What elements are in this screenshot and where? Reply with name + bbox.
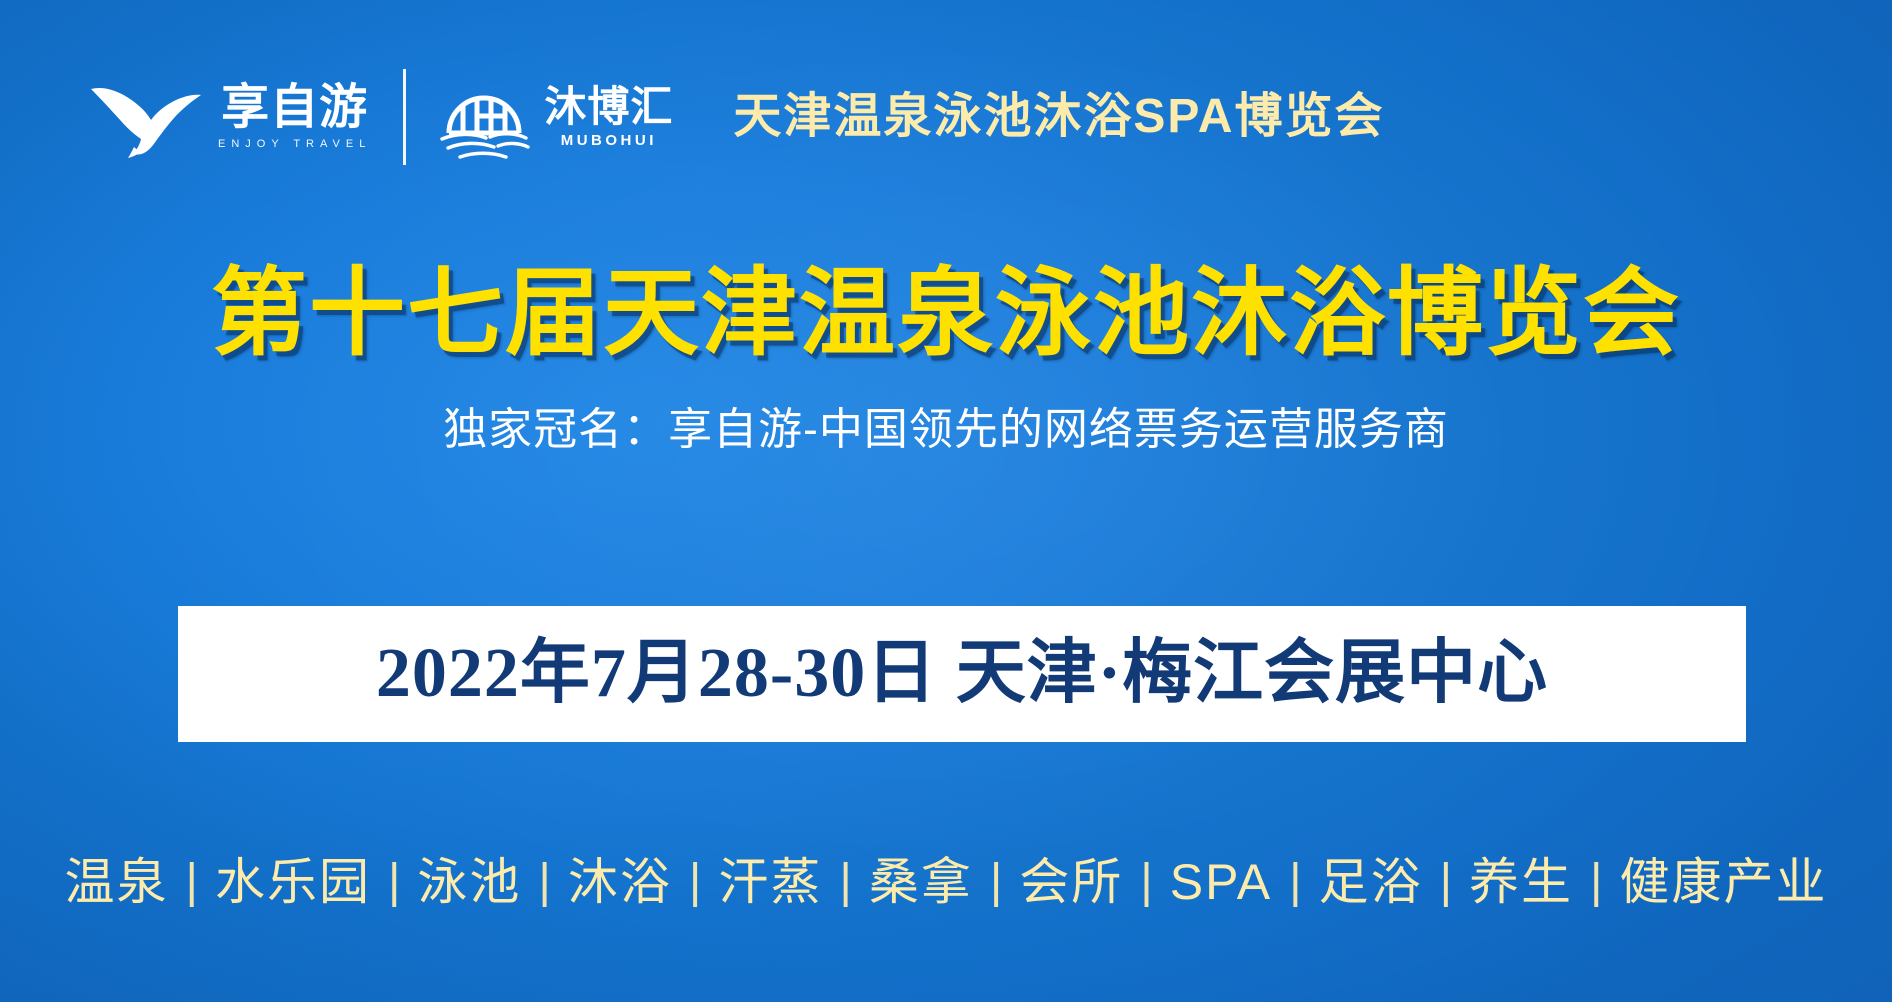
header-expo-title: 天津温泉泳池沐浴SPA博览会 — [733, 93, 1384, 141]
seagull-icon — [88, 75, 204, 159]
keyword-separator: | — [822, 853, 868, 911]
sponsor-name-en: ENJOY TRAVEL — [218, 138, 371, 150]
expo-banner: 享自游 ENJOY TRAVEL — [0, 0, 1892, 1002]
logo-divider — [403, 69, 406, 165]
page-title: 第十七届天津温泉泳池沐浴博览会 — [0, 262, 1892, 366]
sponsor-name-cn: 享自游 — [221, 84, 368, 133]
keyword-item: 温泉 — [64, 852, 168, 912]
keyword-item: 汗蒸 — [718, 852, 822, 912]
organizer-name-cn: 沐博汇 — [544, 85, 673, 129]
keyword-separator: | — [168, 853, 214, 911]
keyword-item: 沐浴 — [568, 852, 672, 912]
keyword-item: 健康产业 — [1620, 852, 1828, 912]
date-venue-box: 2022年7月28-30日 天津·梅江会展中心 — [178, 606, 1746, 742]
mubohui-emblem-icon — [436, 71, 532, 163]
date-venue-text: 2022年7月28-30日 天津·梅江会展中心 — [376, 639, 1548, 709]
keyword-item: SPA — [1170, 852, 1272, 912]
organizer-wordmark: 沐博汇 MUBOHUI — [544, 85, 673, 148]
organizer-name-en: MUBOHUI — [561, 132, 657, 149]
keyword-separator: | — [973, 853, 1019, 911]
page-subtitle: 独家冠名：享自游-中国领先的网络票务运营服务商 — [0, 404, 1892, 457]
keyword-strip: 温泉|水乐园|泳池|沐浴|汗蒸|桑拿|会所|SPA|足浴|养生|健康产业 — [0, 852, 1892, 912]
sponsor-wordmark: 享自游 ENJOY TRAVEL — [218, 84, 371, 150]
keyword-separator: | — [1423, 853, 1469, 911]
banner-header: 享自游 ENJOY TRAVEL — [88, 62, 1384, 172]
keyword-separator: | — [521, 853, 567, 911]
organizer-logo: 沐博汇 MUBOHUI — [436, 67, 673, 167]
keyword-separator: | — [672, 853, 718, 911]
keyword-item: 足浴 — [1319, 852, 1423, 912]
sponsor-logo: 享自游 ENJOY TRAVEL — [88, 67, 371, 167]
keyword-item: 泳池 — [417, 852, 521, 912]
keyword-item: 桑拿 — [869, 852, 973, 912]
keyword-separator: | — [1573, 853, 1619, 911]
keyword-separator: | — [1272, 853, 1318, 911]
keyword-separator: | — [1123, 853, 1169, 911]
keyword-item: 养生 — [1469, 852, 1573, 912]
keyword-separator: | — [371, 853, 417, 911]
keyword-item: 水乐园 — [215, 852, 371, 912]
keyword-item: 会所 — [1019, 852, 1123, 912]
